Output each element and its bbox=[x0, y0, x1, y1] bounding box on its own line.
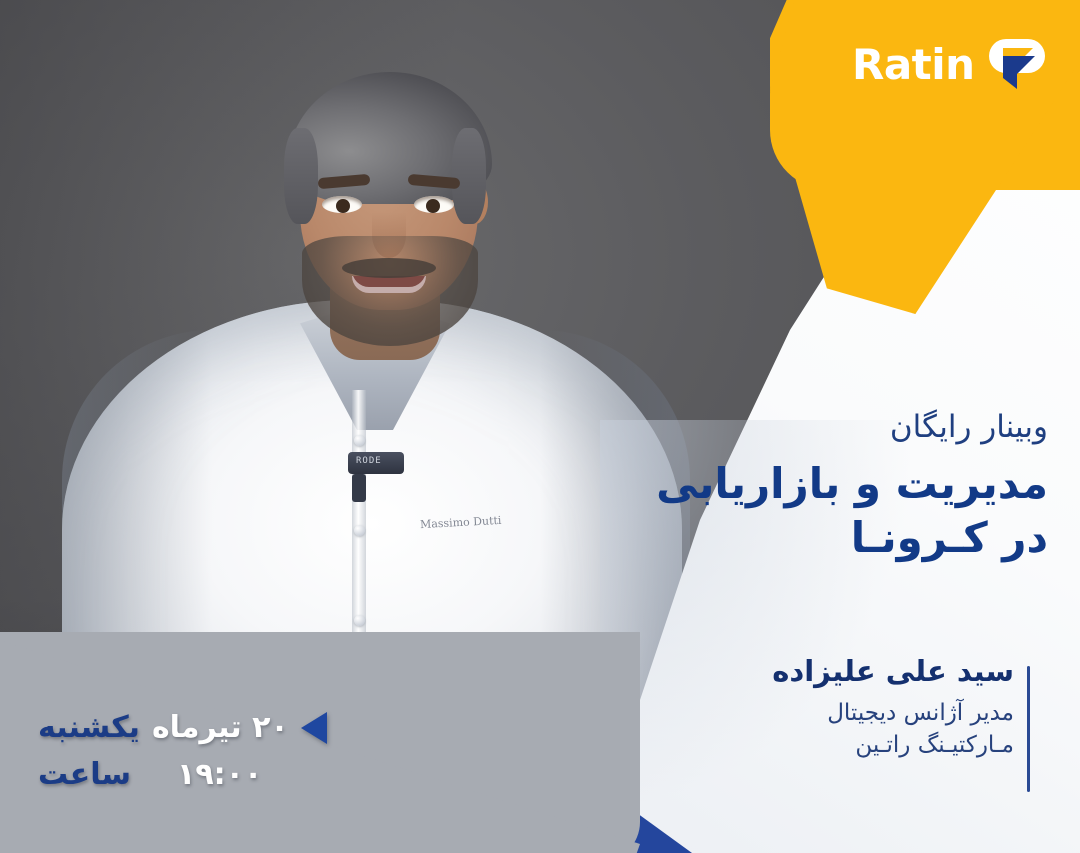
time-value: ۱۹:۰۰ bbox=[177, 760, 262, 790]
time-row: ساعت ۱۹:۰۰ bbox=[38, 760, 338, 790]
hair-side-right bbox=[452, 128, 486, 224]
kicker-text: وبینار رایگان bbox=[628, 408, 1048, 447]
brand-name: Ratin bbox=[852, 44, 975, 86]
speaker-block: سید علی علیزاده مدیر آژانس دیجیتال مـارک… bbox=[684, 654, 1014, 762]
shirt-button bbox=[354, 525, 365, 536]
brand-logo[interactable]: Ratin bbox=[852, 38, 1045, 92]
time-label: ساعت bbox=[38, 760, 131, 790]
headline-block: وبینار رایگان مدیریت و بازاریابی در کـرو… bbox=[628, 408, 1048, 564]
title-line-1: مدیریت و بازاریابی bbox=[628, 457, 1048, 511]
webinar-poster: RODE Massimo Dutti Ratin وبینار رایگان م… bbox=[0, 0, 1080, 853]
mouth bbox=[352, 276, 426, 293]
pupil-left bbox=[336, 199, 350, 213]
title-line-2: در کـرونـا bbox=[628, 511, 1048, 565]
microphone-clip bbox=[352, 474, 366, 502]
shirt-button bbox=[354, 435, 365, 446]
date-row: یکشنبه ۲۰ تیرماه bbox=[38, 712, 338, 744]
mustache bbox=[342, 258, 436, 278]
hair-side-left bbox=[284, 128, 318, 224]
play-triangle-icon bbox=[301, 712, 327, 744]
schedule-block: یکشنبه ۲۰ تیرماه ساعت ۱۹:۰۰ bbox=[38, 712, 338, 790]
shirt-button bbox=[354, 615, 365, 626]
speaker-divider-rule bbox=[1027, 666, 1030, 792]
speaker-name: سید علی علیزاده bbox=[684, 654, 1014, 689]
speaker-role-line-2: مـارکتیـنگ راتـین bbox=[684, 729, 1014, 762]
day-label: یکشنبه bbox=[38, 713, 140, 743]
microphone-brand-label: RODE bbox=[356, 456, 382, 466]
pupil-right bbox=[426, 199, 440, 213]
speech-bubble-play-icon bbox=[989, 38, 1045, 92]
date-value: ۲۰ تیرماه bbox=[152, 713, 289, 743]
speaker-role-line-1: مدیر آژانس دیجیتال bbox=[684, 697, 1014, 730]
